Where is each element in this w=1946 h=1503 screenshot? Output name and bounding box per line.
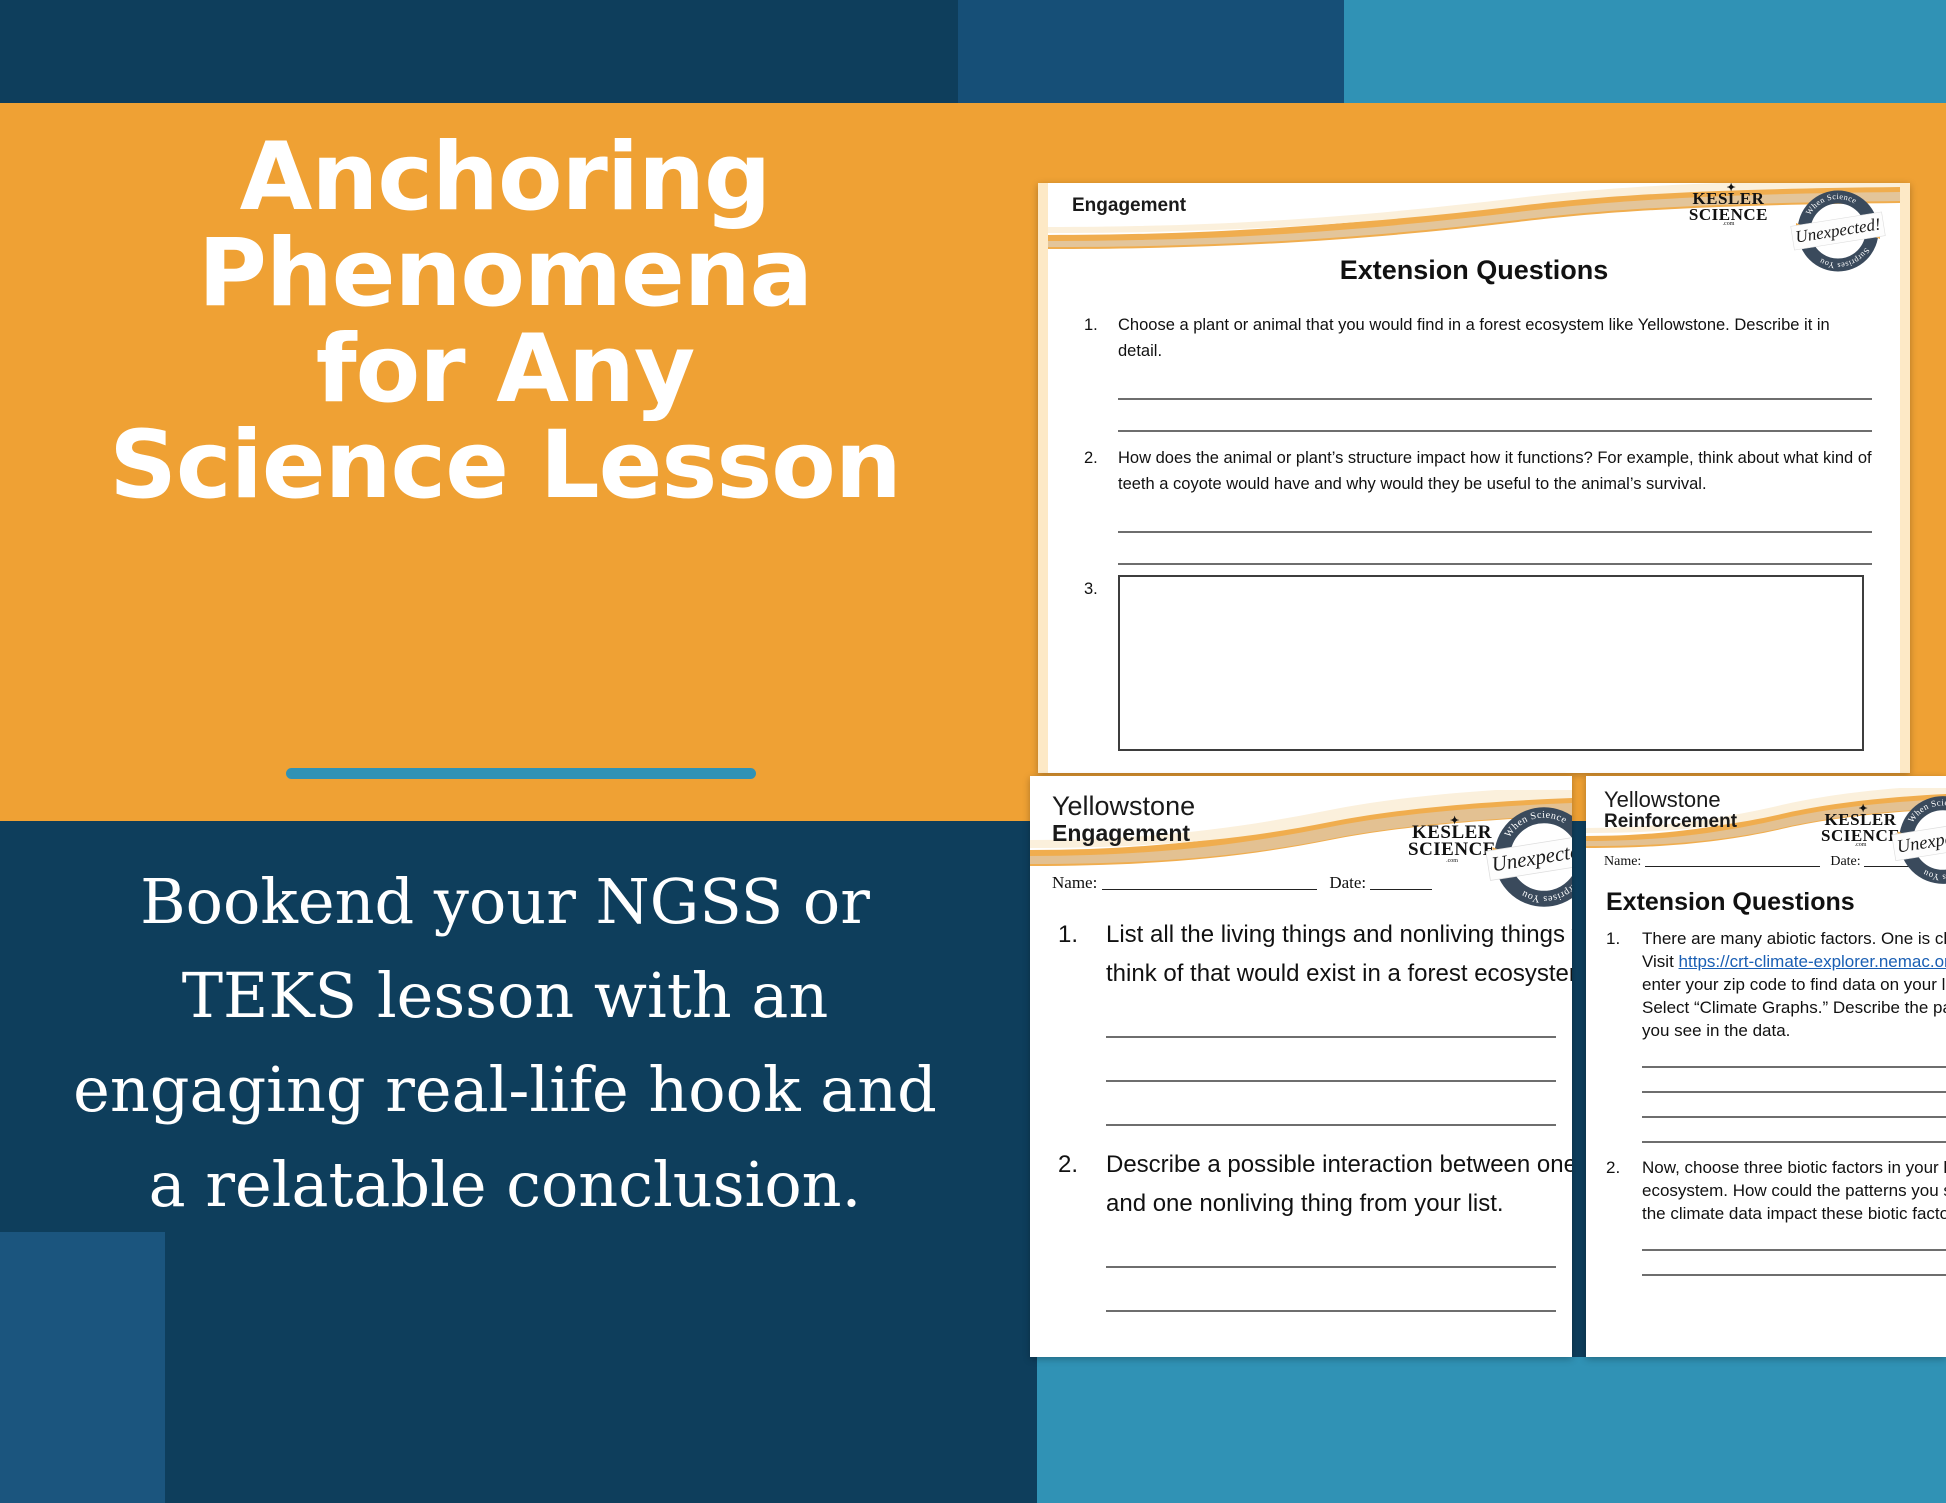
worksheet-eyebrow-main: Yellowstone [1604, 788, 1737, 811]
question-text: List all the living things and nonliving… [1106, 916, 1572, 994]
answer-line[interactable] [1642, 1118, 1946, 1143]
question-number: 2. [1084, 446, 1118, 497]
answer-line[interactable] [1642, 1226, 1946, 1251]
date-input-rule[interactable] [1370, 889, 1432, 890]
answer-line[interactable] [1118, 533, 1872, 565]
worksheet-eyebrow-main: Yellowstone [1052, 792, 1195, 820]
logo-spark-icon: ✦ [1450, 816, 1460, 826]
question-number: 1. [1084, 313, 1118, 364]
name-label: Name: [1052, 873, 1097, 892]
answer-lines[interactable] [1084, 501, 1872, 565]
background-teal-bottom-block [1037, 1357, 1946, 1503]
worksheet-eyebrow: Yellowstone Reinforcement [1604, 788, 1737, 833]
logo-wordmark-line-2: SCIENCE [1408, 841, 1496, 858]
sketch-answer-box[interactable] [1118, 575, 1864, 751]
name-date-row[interactable]: Name: Date: [1052, 873, 1432, 893]
hero-subtitle: Bookend your NGSS or TEKS lesson with an… [55, 855, 955, 1232]
worksheet-page-engagement[interactable]: Engagement ✦ KESLER SCIENCE .com Unexpec… [1038, 183, 1910, 773]
answer-line[interactable] [1642, 1043, 1946, 1068]
kesler-science-logo: ✦ KESLER SCIENCE .com [1689, 191, 1768, 228]
question-text: There are many abiotic factors. One is c… [1642, 928, 1946, 1043]
logo-spark-icon: ✦ [1726, 183, 1736, 193]
hero-title-line-1: Anchoring [40, 130, 970, 226]
answer-line[interactable] [1642, 1068, 1946, 1093]
background-navy-top-tab [958, 0, 1344, 120]
worksheet-eyebrow-sub: Reinforcement [1604, 811, 1737, 833]
answer-lines[interactable] [1084, 368, 1872, 432]
answer-line[interactable] [1118, 368, 1872, 400]
hero-title-line-4: Science Lesson [40, 418, 970, 514]
page-edge-left [1038, 183, 1048, 773]
answer-lines[interactable] [1058, 994, 1572, 1126]
background-light-navy-square [0, 1232, 165, 1503]
question-item: 1. Choose a plant or animal that you wou… [1084, 313, 1872, 364]
answer-line[interactable] [1118, 400, 1872, 432]
question-item: 2. Describe a possible interaction betwe… [1058, 1146, 1572, 1224]
answer-line[interactable] [1106, 1268, 1556, 1312]
question-text: Now, choose three biotic factors in your… [1642, 1157, 1946, 1226]
unexpected-stamp-badge: Unexpected! When Science Surprises You [1790, 183, 1886, 279]
answer-line[interactable] [1106, 1224, 1556, 1268]
answer-line[interactable] [1642, 1093, 1946, 1118]
name-label: Name: [1604, 854, 1641, 869]
answer-line[interactable] [1118, 501, 1872, 533]
unexpected-stamp-badge: Unexpected! When Science Surprises You [1485, 798, 1572, 916]
question-item: 2. Now, choose three biotic factors in y… [1606, 1157, 1946, 1226]
answer-lines[interactable] [1606, 1226, 1946, 1276]
unexpected-stamp-badge: Unexpected! When Science Surprises You [1891, 788, 1946, 892]
title-divider-rule [286, 768, 756, 779]
name-input-rule[interactable] [1102, 889, 1317, 890]
question-text: Choose a plant or animal that you would … [1118, 313, 1872, 364]
hero-title-line-2: Phenomena [40, 226, 970, 322]
answer-line[interactable] [1642, 1251, 1946, 1276]
question-number: 2. [1606, 1157, 1642, 1226]
answer-line[interactable] [1106, 1038, 1556, 1082]
question-text: Describe a possible interaction between … [1106, 1146, 1572, 1224]
logo-spark-icon: ✦ [1859, 804, 1869, 814]
worksheet-eyebrow-sub: Engagement [1072, 195, 1186, 217]
question-list: 1. List all the living things and nonliv… [1058, 916, 1572, 1312]
question-text: How does the animal or plant’s structure… [1118, 446, 1872, 497]
worksheet-heading: Extension Questions [1048, 255, 1900, 286]
worksheet-eyebrow-sub: Engagement [1052, 820, 1195, 846]
hero-title: Anchoring Phenomena for Any Science Less… [40, 130, 970, 514]
worksheet-page-yellowstone-engagement[interactable]: Yellowstone Engagement ✦ KESLER SCIENCE … [1030, 776, 1572, 1357]
worksheet-page-yellowstone-reinforcement[interactable]: Yellowstone Reinforcement ✦ KESLER SCIEN… [1586, 776, 1946, 1357]
logo-wordmark-line-2: SCIENCE [1689, 207, 1768, 223]
date-label: Date: [1830, 854, 1860, 869]
answer-lines[interactable] [1606, 1043, 1946, 1143]
question-item: 1. There are many abiotic factors. One i… [1606, 928, 1946, 1043]
date-label: Date: [1329, 873, 1366, 892]
question-item: 1. List all the living things and nonliv… [1058, 916, 1572, 994]
background-navy-bottom-block [900, 1357, 1038, 1503]
question-number: 1. [1606, 928, 1642, 1043]
name-input-rule[interactable] [1645, 866, 1820, 867]
page-edge-right [1900, 183, 1910, 773]
name-date-row[interactable]: Name: Date: [1604, 854, 1916, 870]
kesler-science-logo: ✦ KESLER SCIENCE .com [1821, 812, 1900, 849]
answer-line[interactable] [1106, 994, 1556, 1038]
answer-line[interactable] [1106, 1082, 1556, 1126]
worksheet-body: Engagement ✦ KESLER SCIENCE .com Unexpec… [1048, 183, 1900, 773]
kesler-science-logo: ✦ KESLER SCIENCE .com [1408, 824, 1496, 864]
question-number: 3. [1084, 577, 1118, 603]
hero-title-line-3: for Any [40, 322, 970, 418]
question-list: 1. There are many abiotic factors. One i… [1606, 928, 1946, 1276]
worksheet-eyebrow: Yellowstone Engagement [1052, 792, 1195, 847]
climate-explorer-link[interactable]: https://crt-climate-explorer.nemac.org/ [1679, 952, 1946, 971]
question-item: 2. How does the animal or plant’s struct… [1084, 446, 1872, 497]
worksheet-body: Yellowstone Reinforcement ✦ KESLER SCIEN… [1586, 776, 1946, 1357]
worksheet-eyebrow: Engagement [1072, 195, 1186, 217]
worksheet-body: Yellowstone Engagement ✦ KESLER SCIENCE … [1030, 776, 1572, 1357]
question-list: 1. Choose a plant or animal that you wou… [1084, 313, 1872, 607]
promo-graphic-canvas: Anchoring Phenomena for Any Science Less… [0, 0, 1946, 1503]
answer-lines[interactable] [1058, 1224, 1572, 1312]
worksheet-heading: Extension Questions [1606, 888, 1855, 917]
question-number: 1. [1058, 916, 1106, 994]
logo-wordmark-line-2: SCIENCE [1821, 828, 1900, 844]
question-number: 2. [1058, 1146, 1106, 1224]
header-swoosh-graphic [1048, 183, 1900, 253]
